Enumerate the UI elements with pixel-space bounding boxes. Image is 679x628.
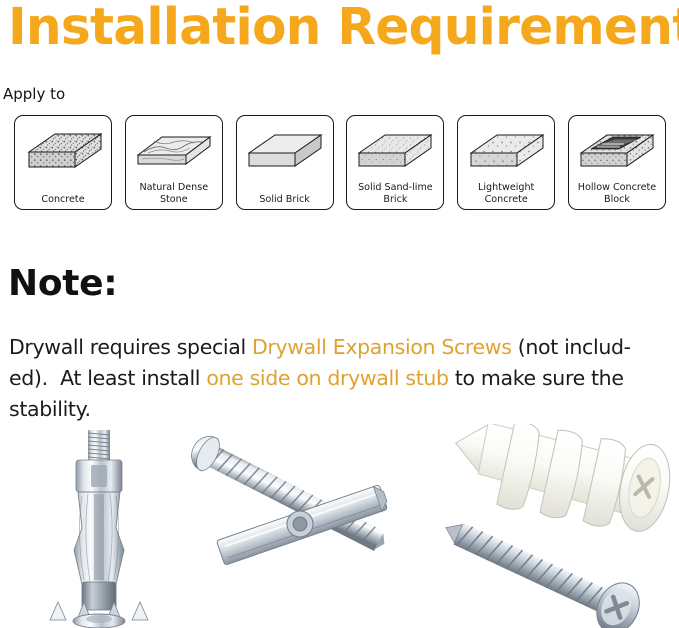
- material-label: Solid Brick: [237, 194, 333, 206]
- installation-requirements-page: Installation Requirements Apply to: [0, 0, 679, 628]
- hardware-photo-strip: [0, 424, 679, 628]
- note-heading: Note:: [8, 262, 117, 306]
- stone-slab-icon: [132, 122, 216, 174]
- hollow-wall-anchor-icon: [38, 424, 160, 628]
- self-drilling-drywall-anchor-icon: [440, 424, 679, 628]
- material-label: Lightweight Concrete: [458, 182, 554, 205]
- material-label: Solid Sand-lime Brick: [347, 182, 443, 205]
- material-card-lightweight-concrete: Lightweight Concrete: [457, 115, 555, 210]
- page-title: Installation Requirements: [8, 0, 670, 60]
- lightweight-concrete-icon: [464, 122, 548, 174]
- note-highlight-text: Drywall Expansion Screws: [252, 335, 512, 359]
- spring-toggle-bolt-icon: [178, 426, 408, 626]
- material-label: Hollow Concrete Block: [569, 182, 665, 205]
- material-list: Concrete Natural Dense Stone Solid Bri: [14, 115, 666, 210]
- apply-to-label: Apply to: [3, 85, 65, 103]
- material-label: Natural Dense Stone: [126, 182, 222, 205]
- material-card-solid-brick: Solid Brick: [236, 115, 334, 210]
- note-highlight-text: one side on drywall stub: [206, 366, 448, 390]
- material-card-hollow-concrete-block: Hollow Concrete Block: [568, 115, 666, 210]
- material-card-natural-dense-stone: Natural Dense Stone: [125, 115, 223, 210]
- material-card-solid-sand-lime-brick: Solid Sand-lime Brick: [346, 115, 444, 210]
- material-card-concrete: Concrete: [14, 115, 112, 210]
- note-body: Drywall requires special Drywall Expansi…: [9, 332, 677, 425]
- concrete-block-icon: [21, 122, 105, 174]
- solid-brick-icon: [243, 122, 327, 174]
- material-label: Concrete: [15, 194, 111, 206]
- hollow-concrete-block-icon: [575, 122, 659, 174]
- sand-lime-brick-icon: [353, 122, 437, 174]
- note-plain-text: Drywall requires special: [9, 335, 252, 359]
